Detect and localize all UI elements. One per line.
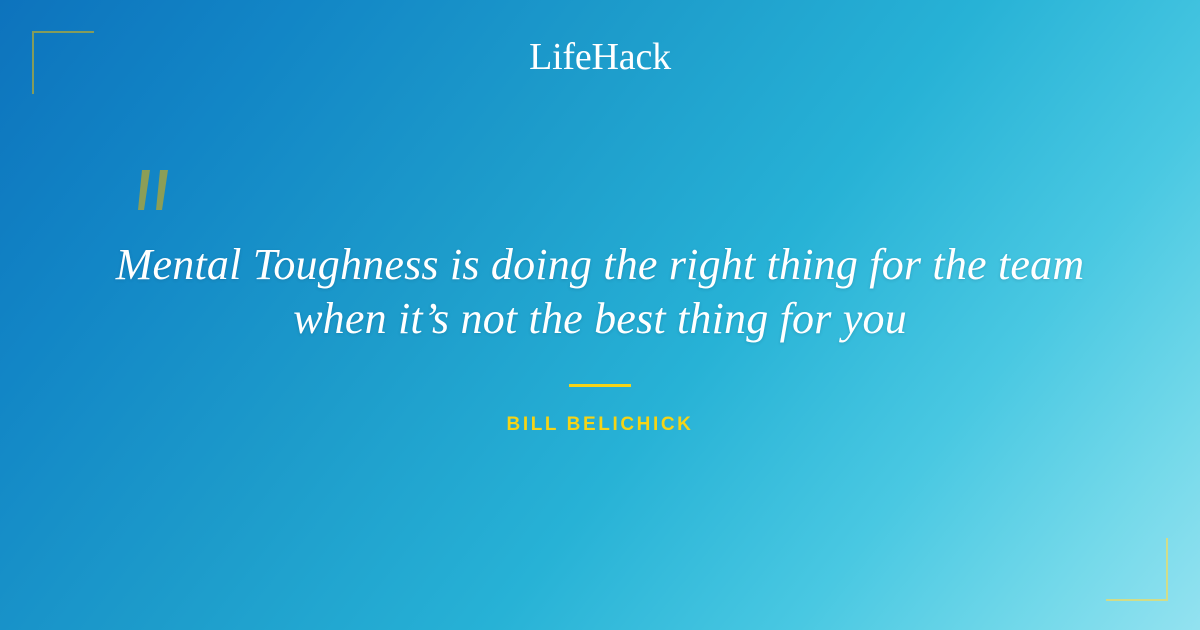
quote-block: Mental Toughness is doing the right thin…: [0, 238, 1200, 346]
brand-name: LifeHack: [529, 38, 671, 76]
quote-card: LifeHack Mental Toughness is doing the r…: [0, 0, 1200, 630]
attribution: BILL BELICHICK: [0, 414, 1200, 436]
author-name: BILL BELICHICK: [507, 414, 694, 436]
quote-line-2: when it’s not the best thing for you: [70, 292, 1130, 346]
double-quote-icon: [129, 166, 189, 222]
attribution-divider: [569, 384, 631, 387]
brand-logo: LifeHack: [0, 38, 1200, 76]
quote-line-1: Mental Toughness is doing the right thin…: [70, 238, 1130, 292]
corner-bracket-icon-bottom-right: [1106, 538, 1168, 601]
